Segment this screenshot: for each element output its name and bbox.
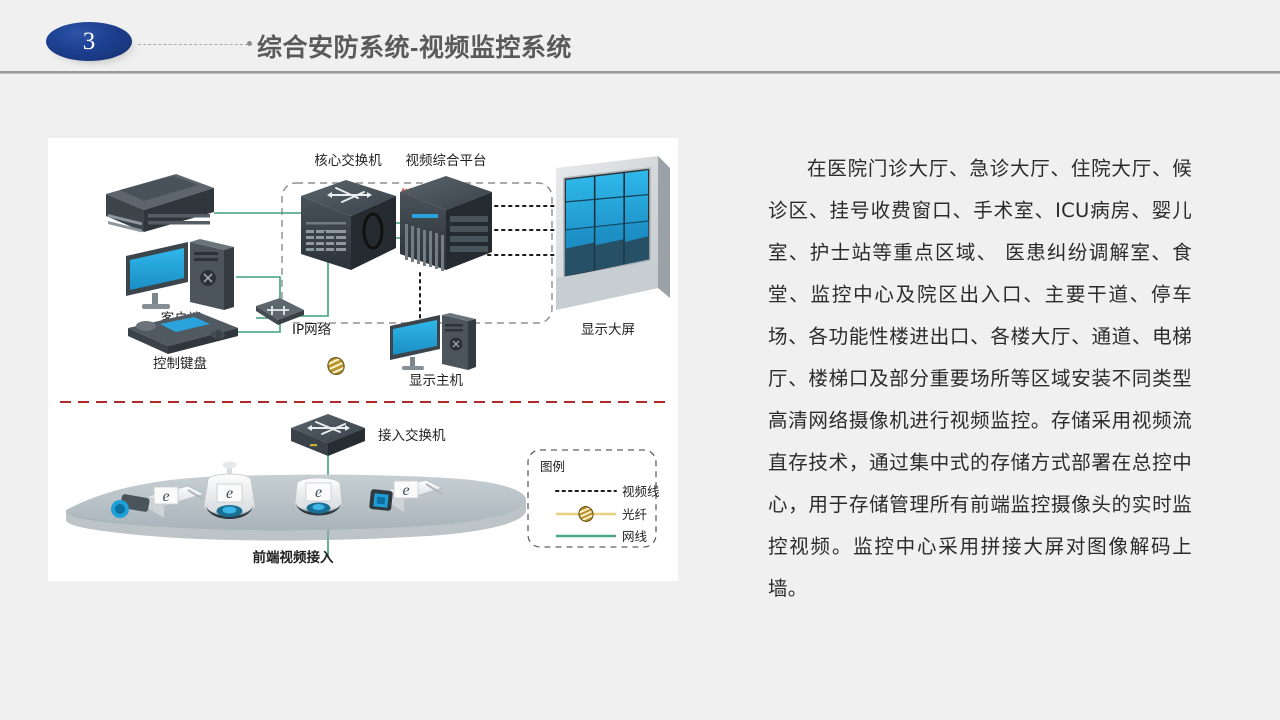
label-display-host: 显示主机 (409, 373, 463, 389)
ie-logo-icon: e (394, 481, 418, 499)
svg-text:视频线: 视频线 (622, 484, 660, 499)
svg-text:e: e (162, 488, 169, 505)
display-host-workstation (390, 313, 476, 370)
camera-ptz-2: e (204, 462, 255, 520)
label-video-platform: 视频综合平台 (406, 153, 487, 169)
label-core-switch: 核心交换机 (314, 152, 382, 169)
ie-logo-icon: e (154, 487, 178, 505)
nvr-storage-device (106, 174, 214, 232)
header-divider (0, 71, 1280, 74)
svg-text:e: e (315, 484, 322, 501)
diagram-legend: 图例 视频线 光纤 网线 (528, 450, 660, 547)
svg-text:e: e (226, 485, 233, 502)
ie-logo-icon: e (217, 484, 242, 502)
fiber-coil-icon (325, 355, 347, 377)
video-platform-server (400, 176, 492, 271)
ip-network-node (256, 298, 304, 325)
description-paragraph: 在医院门诊大厅、急诊大厅、住院大厅、候诊区、挂号收费窗口、手术室、ICU病房、婴… (768, 148, 1192, 610)
leader-dot-icon (247, 41, 252, 46)
camera-dome-3: e (295, 478, 342, 516)
slide-header: 3 综合安防系统-视频监控系统 (0, 0, 1280, 74)
legend-title: 图例 (540, 459, 565, 474)
dashed-leader-line-icon (138, 44, 248, 46)
ie-logo-icon: e (306, 483, 331, 501)
label-access-switch: 接入交换机 (378, 427, 446, 444)
control-keyboard-device (128, 312, 238, 354)
client-workstation (126, 239, 234, 310)
access-switch-device (291, 414, 365, 456)
video-wall-display (556, 156, 670, 310)
svg-text:网线: 网线 (622, 529, 648, 544)
label-display-wall: 显示大屏 (581, 322, 635, 338)
topology-diagram-panel: 客户端 控制键盘 IP网络 (48, 138, 678, 581)
label-ip-network: IP网络 (292, 322, 332, 338)
slide-number-badge: 3 (46, 22, 134, 62)
svg-text:光纤: 光纤 (622, 507, 648, 522)
label-control-keyboard: 控制键盘 (153, 355, 207, 372)
svg-text:e: e (402, 482, 409, 499)
label-front-end-access: 前端视频接入 (253, 549, 334, 566)
page-title: 综合安防系统-视频监控系统 (257, 28, 572, 64)
badge-number-text: 3 (46, 22, 132, 61)
